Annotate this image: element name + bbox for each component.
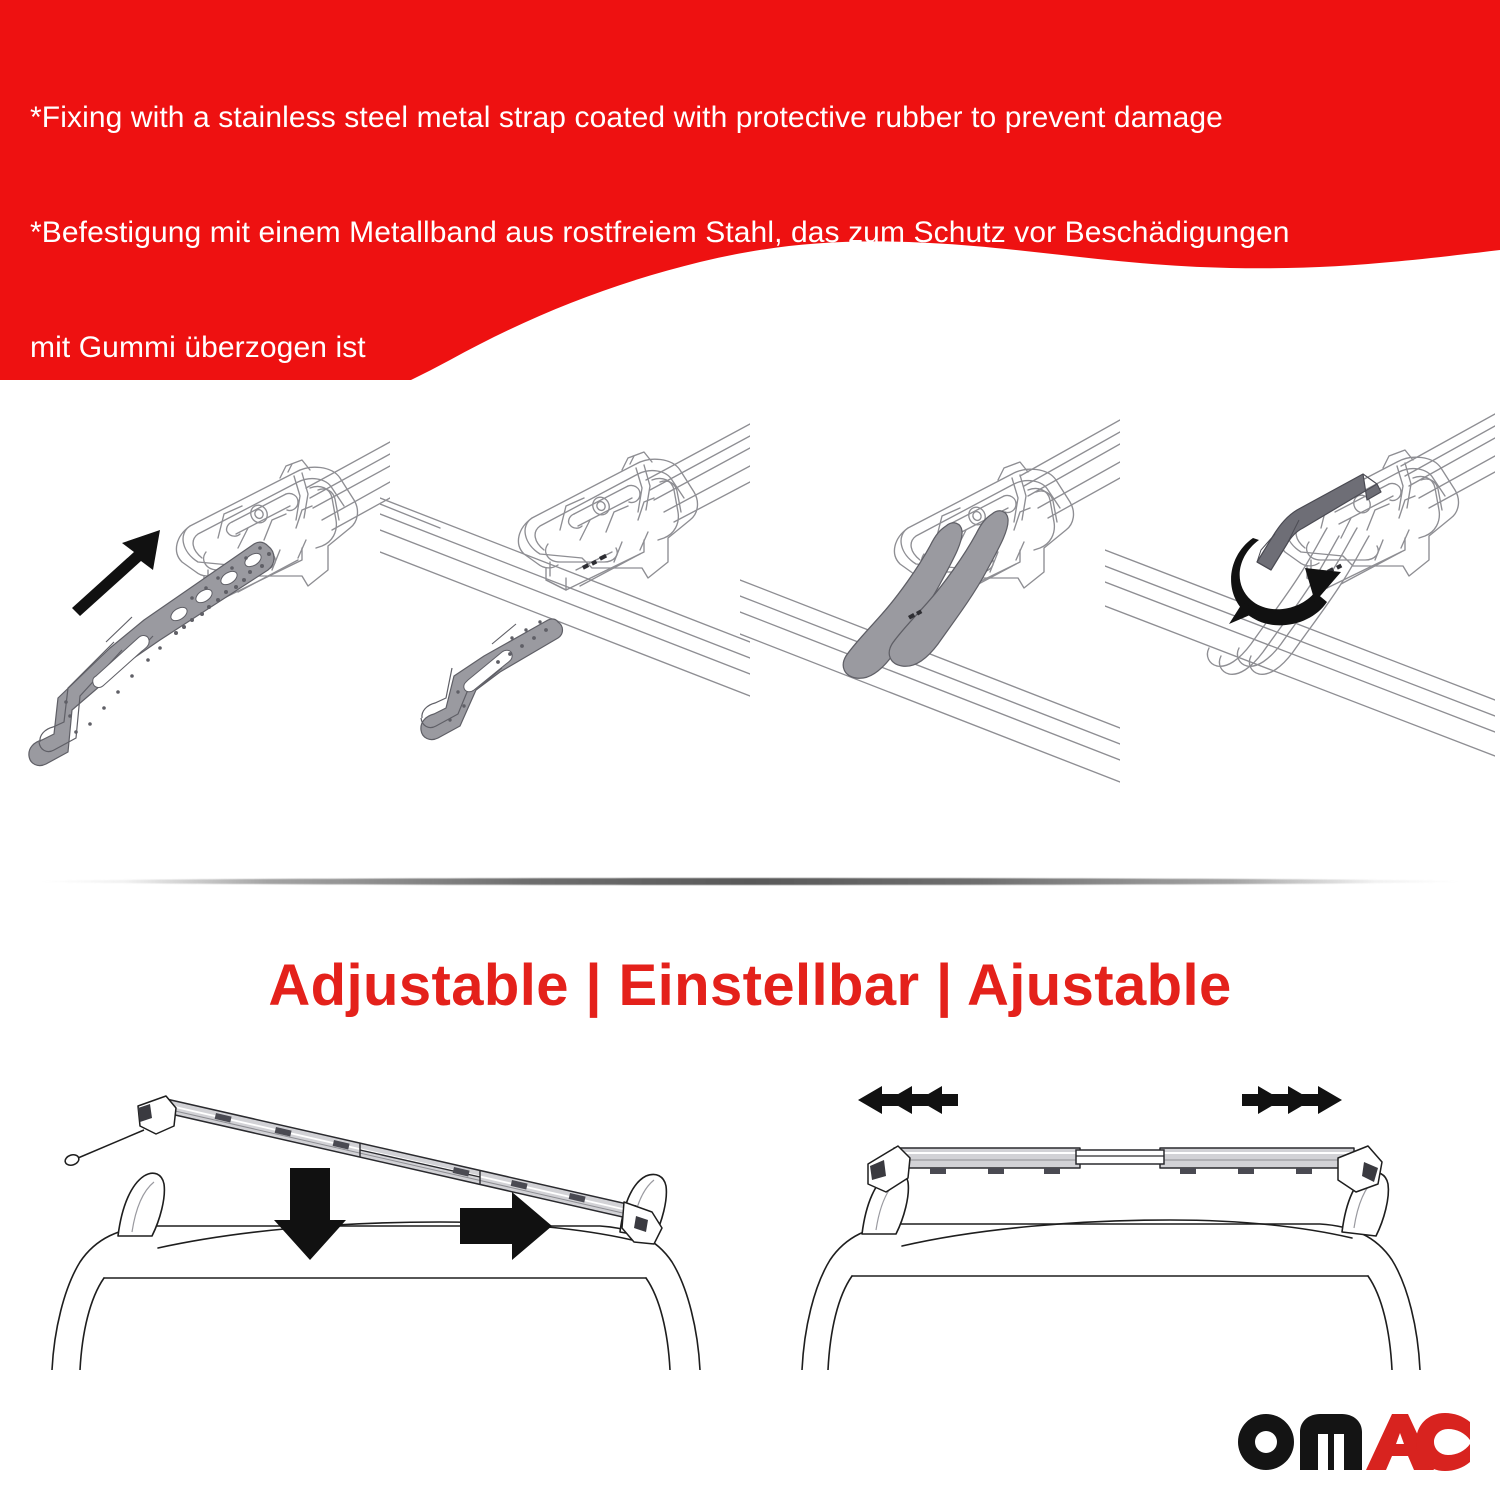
metal-strap-wrapped [843,511,1008,678]
extend-crossbar-illustration [790,1080,1450,1370]
installation-steps-row [0,380,1500,870]
crossbar-part [162,1098,636,1220]
step-1-insert-strap-into-foot [10,380,390,870]
header-banner: *Fixing with a stainless steel metal str… [0,0,1500,380]
metal-strap-part [29,542,274,765]
metal-strap-part [421,619,563,740]
step-4-illustration [1105,380,1495,870]
omac-letter-c [1416,1413,1470,1471]
adjust-illustration-extend-crossbar [790,1080,1450,1370]
hex-key-tool [1257,474,1381,570]
step-2-foot-placed-on-rail [380,380,750,870]
right-arrow-icon [460,1192,552,1260]
omac-letter-m [1300,1414,1362,1470]
section-divider [40,878,1460,885]
step-4-tighten-with-hex-key [1105,380,1495,870]
step-2-illustration [380,380,750,870]
step-3-strap-wrapped-around-rail [740,380,1120,870]
banner-line-3: mit Gummi überzogen ist [30,329,1460,367]
down-arrow-icon [274,1168,346,1260]
triple-left-arrow-icon [858,1086,958,1114]
crossbar-part [894,1148,1354,1174]
adjustable-heading: Adjustable | Einstellbar | Ajustable [0,952,1500,1019]
adjustable-illustrations-row [0,1080,1500,1370]
step-3-illustration [740,380,1120,870]
triple-right-arrow-icon [1242,1086,1342,1114]
step-1-illustration [10,380,390,870]
lower-crossbar-illustration [40,1080,740,1370]
banner-line-1: *Fixing with a stainless steel metal str… [30,99,1460,137]
adjust-illustration-lower-crossbar [40,1080,740,1370]
omac-letter-o [1238,1414,1294,1470]
banner-line-2: *Befestigung mit einem Metallband aus ro… [30,214,1460,252]
up-right-arrow-icon [72,530,160,616]
omac-logo-mark [1232,1400,1472,1474]
omac-logo [1232,1400,1472,1474]
